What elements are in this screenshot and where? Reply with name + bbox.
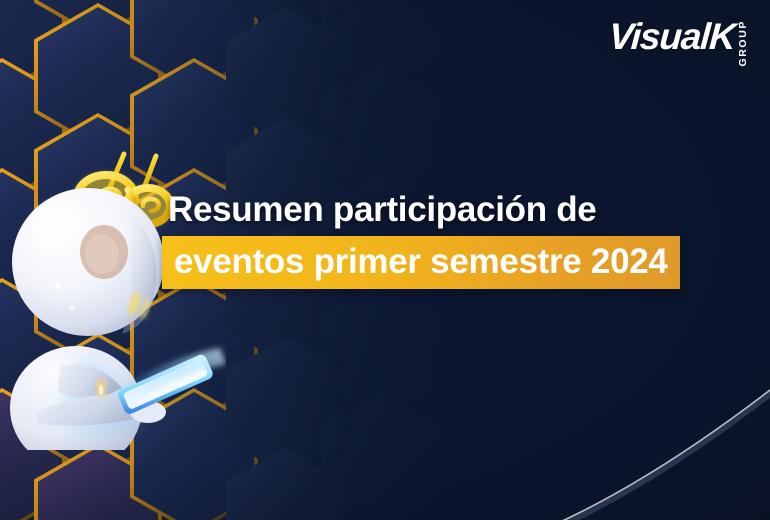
headline-line-1: Resumen participación de: [162, 192, 742, 227]
presentation-slide: VisualK GROUP Resumen participación de e…: [0, 0, 770, 520]
headline-highlight-wrapper: eventos primer semestre 2024: [162, 236, 680, 289]
headline-line-2: eventos primer semestre 2024: [162, 236, 680, 289]
robot-mascot-illustration: [0, 140, 226, 450]
logo-suffix: GROUP: [738, 20, 749, 67]
logo-wordmark: VisualK: [607, 18, 736, 55]
visualk-group-logo[interactable]: VisualK GROUP: [609, 18, 748, 67]
slide-headline: Resumen participación de eventos primer …: [162, 192, 742, 289]
